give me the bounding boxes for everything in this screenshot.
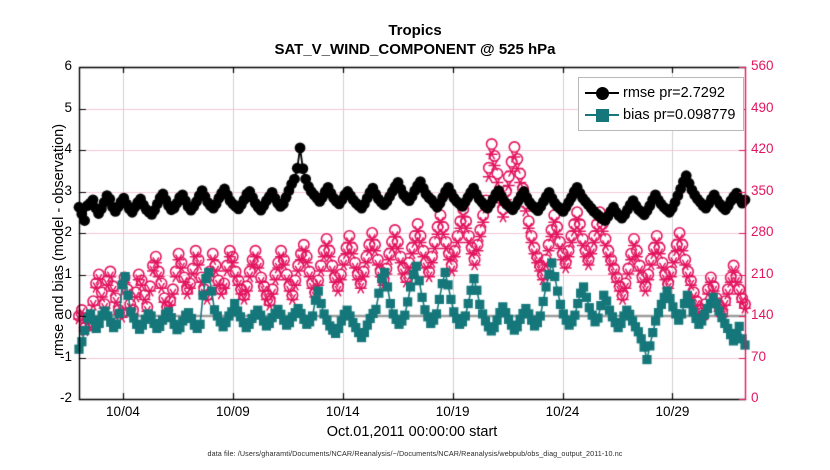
y-tick-label-left: 3 [46,183,72,198]
plot-canvas [0,0,830,470]
y-tick-label-left: 2 [46,224,72,239]
y-tick-label-left: 0 [46,307,72,322]
x-tick-label: 10/09 [198,404,268,419]
chart-page: Tropics SAT_V_WIND_COMPONENT @ 525 hPa r… [0,0,830,470]
x-tick-label: 10/29 [637,404,707,419]
chart-legend: rmse pr=2.7292 bias pr=0.098779 [578,77,744,131]
legend-item-rmse: rmse pr=2.7292 [585,82,735,104]
y-tick-label-right: 0 [751,390,791,405]
legend-item-bias: bias pr=0.098779 [585,104,735,126]
y-tick-label-right: 350 [751,183,791,198]
x-tick-label: 10/14 [308,404,378,419]
y-tick-label-right: 560 [751,58,791,73]
bias-marker-icon [585,108,619,122]
data-file-footer: data file: /Users/gharamti/Documents/NCA… [0,449,830,458]
y-tick-label-left: -1 [46,349,72,364]
y-tick-label-right: 280 [751,224,791,239]
y-tick-label-left: 6 [46,58,72,73]
y-axis-label-left: rmse and bias (model - observation) [51,95,67,385]
x-tick-label: 10/19 [418,404,488,419]
y-tick-label-left: 5 [46,100,72,115]
y-tick-label-right: 420 [751,141,791,156]
y-tick-label-left: 1 [46,266,72,281]
legend-label-rmse: rmse pr=2.7292 [623,85,725,101]
legend-label-bias: bias pr=0.098779 [623,107,735,123]
x-tick-label: 10/24 [528,404,598,419]
y-tick-label-right: 210 [751,266,791,281]
y-tick-label-left: 4 [46,141,72,156]
rmse-marker-icon [585,86,619,100]
y-tick-label-right: 140 [751,307,791,322]
x-tick-label: 10/04 [88,404,158,419]
y-tick-label-right: 70 [751,349,791,364]
x-axis-label: Oct.01,2011 00:00:00 start [79,424,745,440]
y-tick-label-right: 490 [751,100,791,115]
y-tick-label-left: -2 [46,390,72,405]
